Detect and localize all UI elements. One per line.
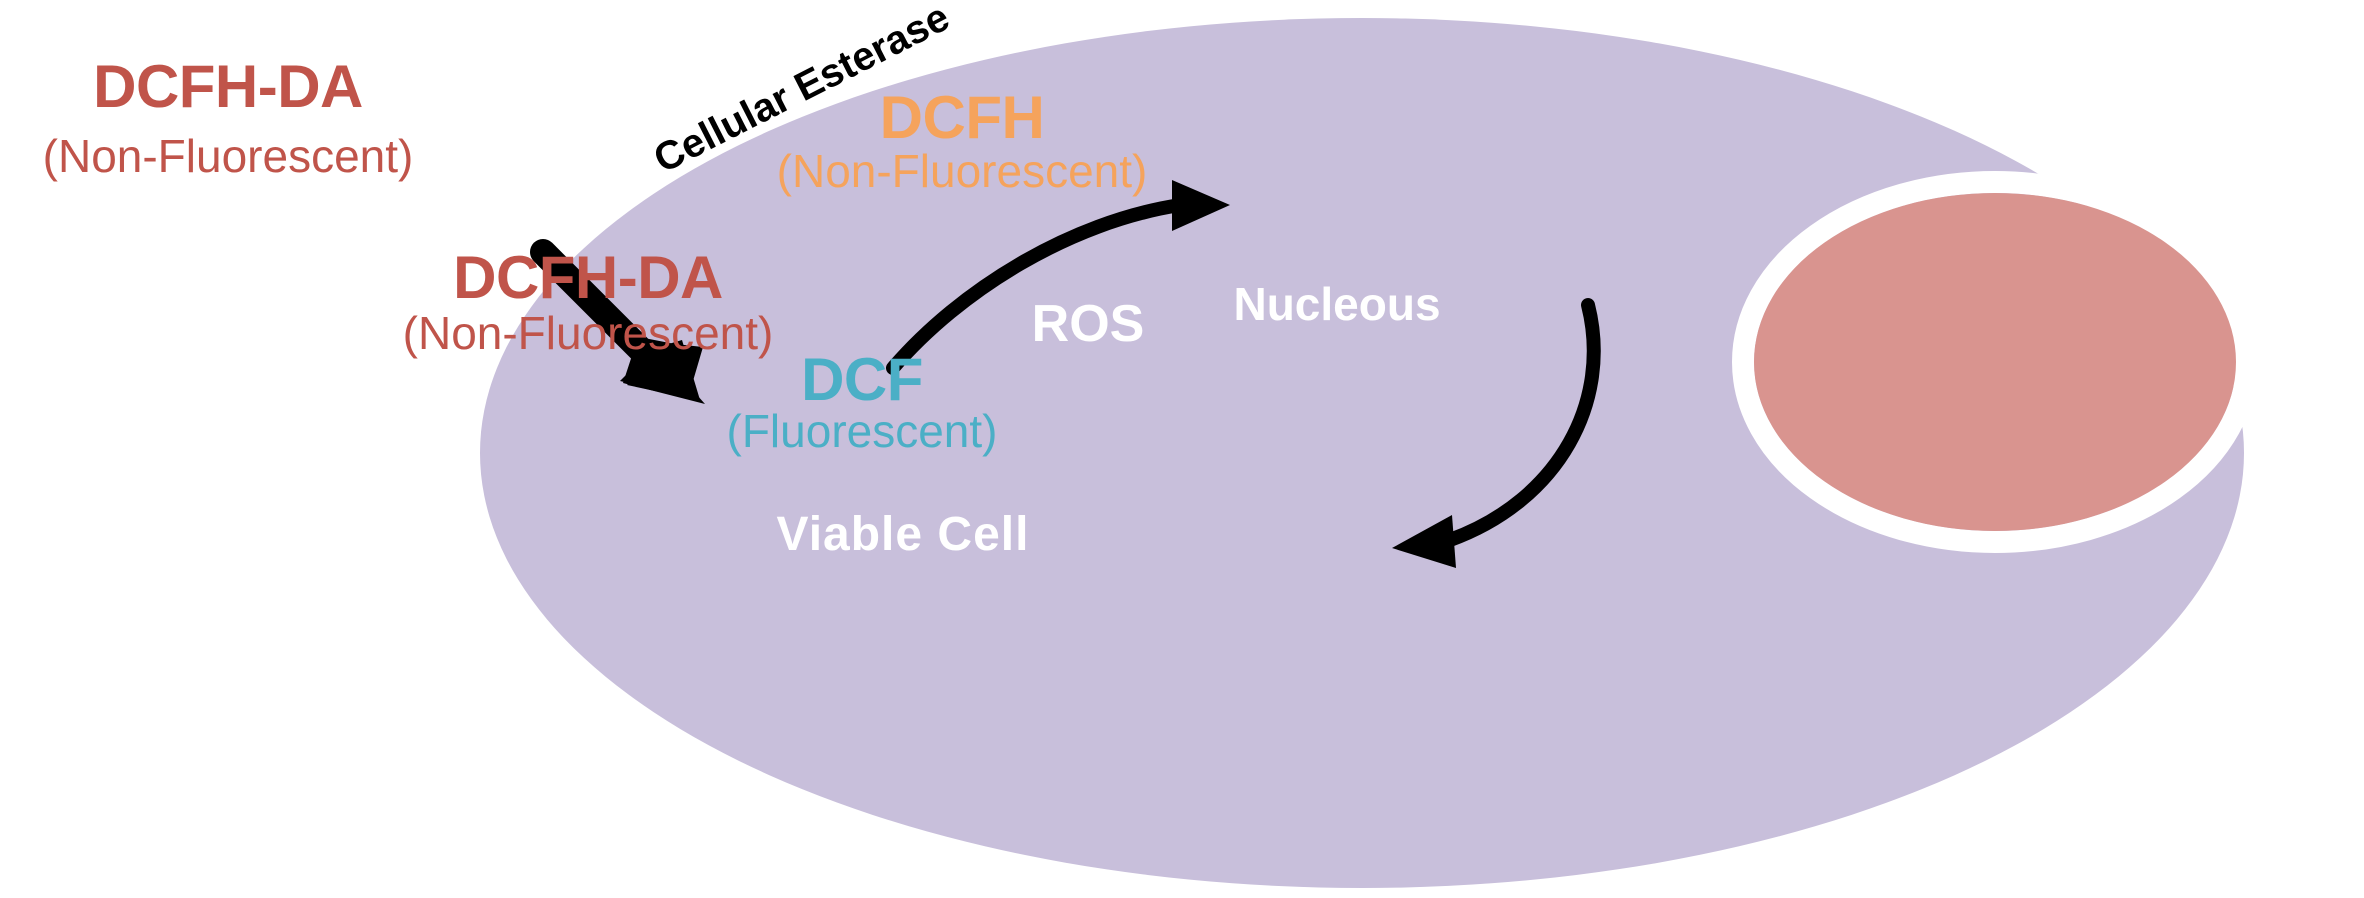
label-viable-cell: Viable Cell: [777, 511, 1030, 559]
label-ros: ROS: [1032, 298, 1145, 350]
label-dcf-name: DCF: [801, 350, 923, 410]
label-dcfh-state: (Non-Fluorescent): [777, 148, 1148, 194]
label-nucleus: Nucleous: [1233, 281, 1440, 327]
label-dcfhda-intracellular-state: (Non-Fluorescent): [403, 310, 774, 356]
label-dcf-state: (Fluorescent): [727, 408, 998, 454]
diagram-canvas: DCFH-DA (Non-Fluorescent) DCFH-DA (Non-F…: [0, 0, 2364, 898]
nucleus-ellipse: [1754, 193, 2236, 531]
label-dcfhda-intracellular-name: DCFH-DA: [453, 248, 723, 308]
label-dcfhda-extracellular-state: (Non-Fluorescent): [43, 133, 414, 179]
label-dcfhda-extracellular-name: DCFH-DA: [93, 57, 363, 117]
label-dcfh-name: DCFH: [880, 88, 1045, 148]
